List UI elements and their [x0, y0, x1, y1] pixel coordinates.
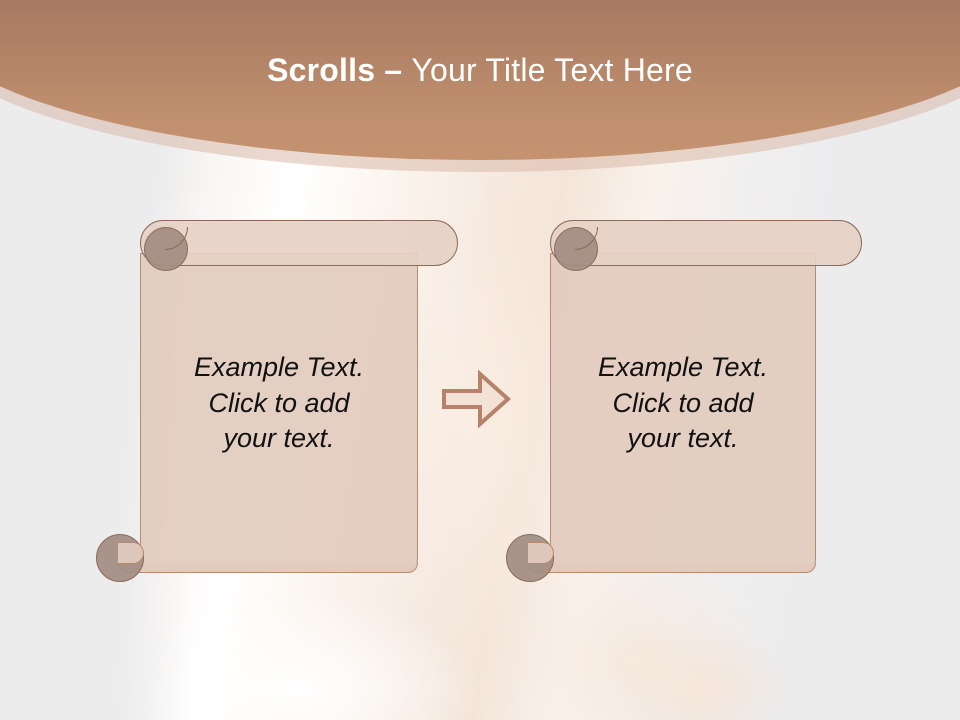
scroll-right-bottom-notch — [528, 542, 554, 564]
slide: Scrolls – Your Title Text Here Example T… — [0, 0, 960, 720]
scroll-right-text-line-2: Click to add — [556, 386, 810, 422]
scroll-right-text-line-3: your text. — [556, 421, 810, 457]
page-title: Scrolls – Your Title Text Here — [0, 52, 960, 89]
arrow-right-icon-svg — [440, 368, 512, 430]
arrow-right-shape — [444, 374, 508, 424]
page-title-separator: – — [375, 52, 411, 88]
scroll-left-text-line-3: your text. — [150, 421, 408, 457]
scroll-right-bottom-edge — [528, 563, 816, 573]
scroll-right-text[interactable]: Example Text. Click to add your text. — [556, 350, 810, 457]
scroll-right-text-line-1: Example Text. — [556, 350, 810, 386]
arrow-right-icon — [440, 368, 512, 430]
page-title-strong: Scrolls — [267, 52, 375, 88]
scroll-left-bottom-notch — [118, 542, 144, 564]
scroll-left-text[interactable]: Example Text. Click to add your text. — [150, 350, 408, 457]
scroll-left-text-line-2: Click to add — [150, 386, 408, 422]
scroll-left-text-line-1: Example Text. — [150, 350, 408, 386]
scroll-left-bottom-edge — [118, 563, 418, 573]
page-title-rest: Your Title Text Here — [411, 52, 692, 88]
